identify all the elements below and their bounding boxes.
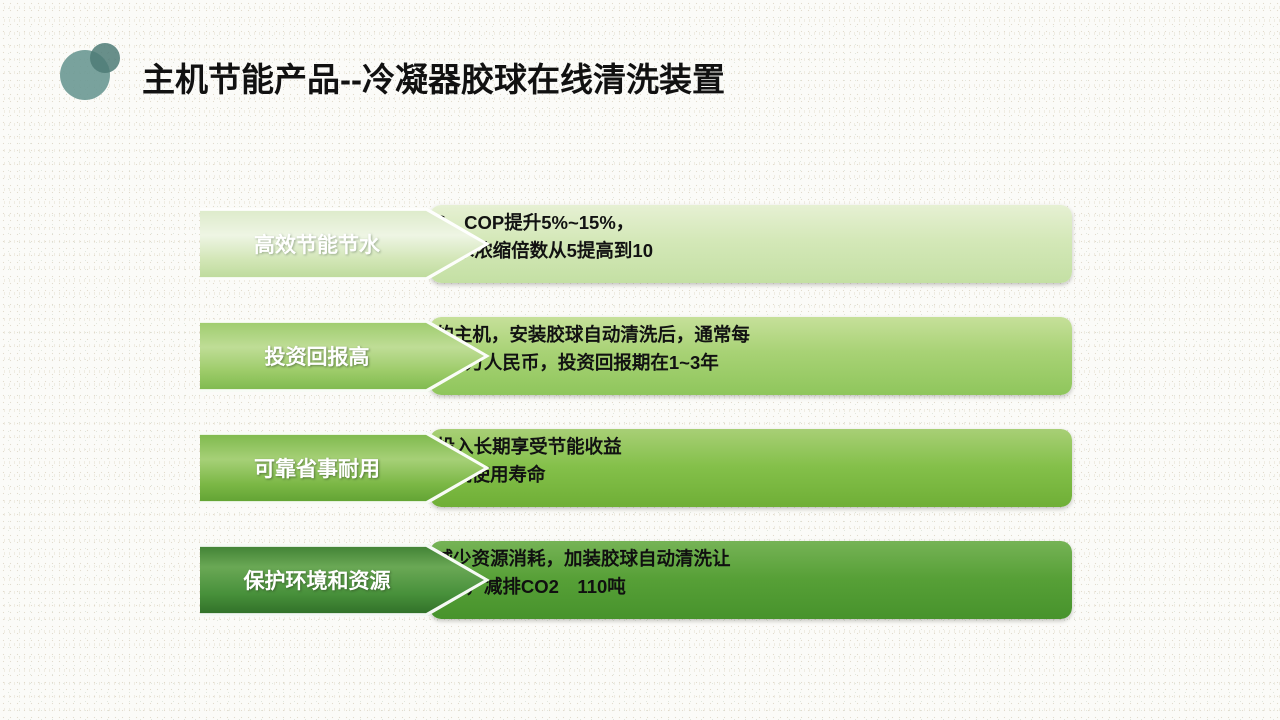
benefit-row: 原平均小温差超3 ℃的主机，安装胶球自动清洗后，通常每 1000RT每年可省电费… [200,307,1072,407]
benefit-label-chip[interactable]: 投资回报高 [200,320,490,392]
benefit-label-chip[interactable]: 保护环境和资源 [200,544,490,616]
benefit-label-chip[interactable]: 可靠省事耐用 [200,432,490,504]
benefit-row: 设计寿命20年，一次投入长期享受节能收益 减免人工通炮，延长主机使用寿命 可靠省… [200,419,1072,519]
benefit-label-chip[interactable]: 高效节能节水 [200,208,490,280]
benefit-label: 可靠省事耐用 [200,453,428,483]
benefit-label: 高效节能节水 [200,229,428,259]
benefit-label: 保护环境和资源 [200,565,428,595]
benefit-label: 投资回报高 [200,341,428,371]
benefit-rows-list: 小温差增量小于0.4℃，COP提升5%~15%， 节省电能5~15%，冷却水浓缩… [0,0,1280,720]
benefit-row: 减少化学药剂使用，减少资源消耗，加装胶球自动清洗让 每1000RT每年节煤43吨… [200,531,1072,631]
benefit-row: 小温差增量小于0.4℃，COP提升5%~15%， 节省电能5~15%，冷却水浓缩… [200,195,1072,295]
